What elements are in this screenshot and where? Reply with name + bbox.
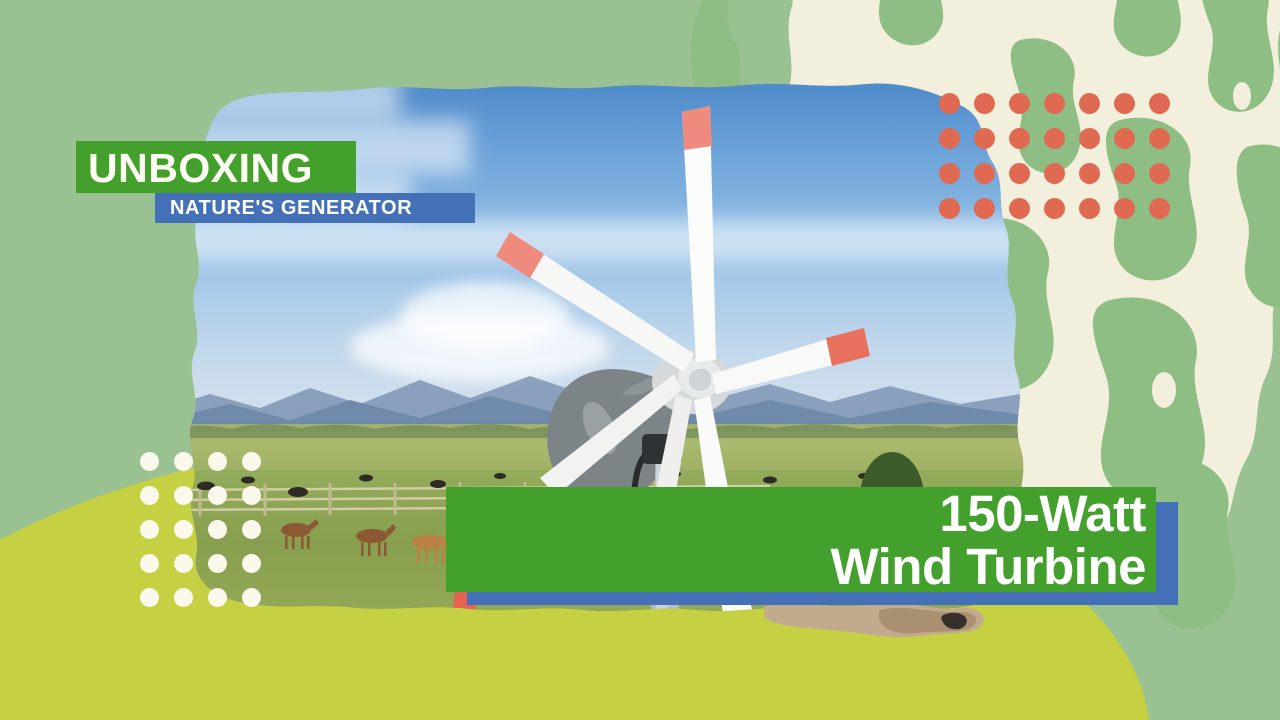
decor-dot-red — [1114, 93, 1135, 114]
decor-dot-white — [208, 588, 227, 607]
decor-dot-red — [1079, 128, 1100, 149]
decor-dot-white — [140, 452, 159, 471]
decor-dot-red — [1149, 128, 1170, 149]
decor-dot-white — [208, 554, 227, 573]
decor-dot-red — [974, 93, 995, 114]
decor-dot-red — [1009, 163, 1030, 184]
decor-dot-white — [208, 486, 227, 505]
decor-dot-red — [1079, 198, 1100, 219]
decor-dot-red — [1044, 128, 1065, 149]
decor-dot-red — [1044, 163, 1065, 184]
video-thumbnail: UNBOXING NATURE'S GENERATOR 150-Watt Win… — [0, 0, 1280, 720]
decor-dot-red — [1149, 198, 1170, 219]
decor-dot-red — [1079, 163, 1100, 184]
headline: 150-Watt Wind Turbine — [446, 487, 1146, 592]
decor-dot-red — [939, 163, 960, 184]
decor-dot-red — [974, 163, 995, 184]
decor-dot-white — [208, 452, 227, 471]
red-dot-grid — [939, 93, 1184, 233]
decor-dot-red — [939, 93, 960, 114]
decor-dot-white — [174, 520, 193, 539]
decor-dot-red — [974, 128, 995, 149]
decor-dot-white — [174, 486, 193, 505]
decor-dot-white — [140, 520, 159, 539]
decor-dot-red — [1114, 128, 1135, 149]
unboxing-label: UNBOXING — [88, 143, 368, 193]
decor-dot-white — [242, 554, 261, 573]
decor-dot-red — [939, 198, 960, 219]
decor-dot-red — [974, 198, 995, 219]
white-dot-grid — [140, 452, 276, 622]
headline-line-1: 150-Watt — [446, 487, 1146, 540]
decor-dot-red — [1114, 198, 1135, 219]
headline-line-2: Wind Turbine — [446, 540, 1146, 593]
decor-dot-white — [242, 520, 261, 539]
decor-dot-red — [1114, 163, 1135, 184]
decor-dot-white — [208, 520, 227, 539]
decor-dot-white — [242, 452, 261, 471]
decor-dot-red — [1009, 128, 1030, 149]
decor-dot-white — [140, 486, 159, 505]
decor-dot-red — [1044, 198, 1065, 219]
decor-dot-white — [140, 588, 159, 607]
decor-dot-white — [140, 554, 159, 573]
decor-dot-red — [1149, 93, 1170, 114]
decor-dot-white — [242, 588, 261, 607]
subtitle-label: NATURE'S GENERATOR — [170, 194, 490, 222]
cloud — [170, 72, 400, 120]
decor-dot-red — [1079, 93, 1100, 114]
decor-dot-red — [1009, 93, 1030, 114]
decor-dot-white — [174, 452, 193, 471]
decor-dot-white — [242, 486, 261, 505]
decor-dot-red — [1044, 93, 1065, 114]
decor-dot-red — [1009, 198, 1030, 219]
decor-dot-red — [939, 128, 960, 149]
decor-dot-red — [1149, 163, 1170, 184]
decor-dot-white — [174, 588, 193, 607]
decor-dot-white — [174, 554, 193, 573]
